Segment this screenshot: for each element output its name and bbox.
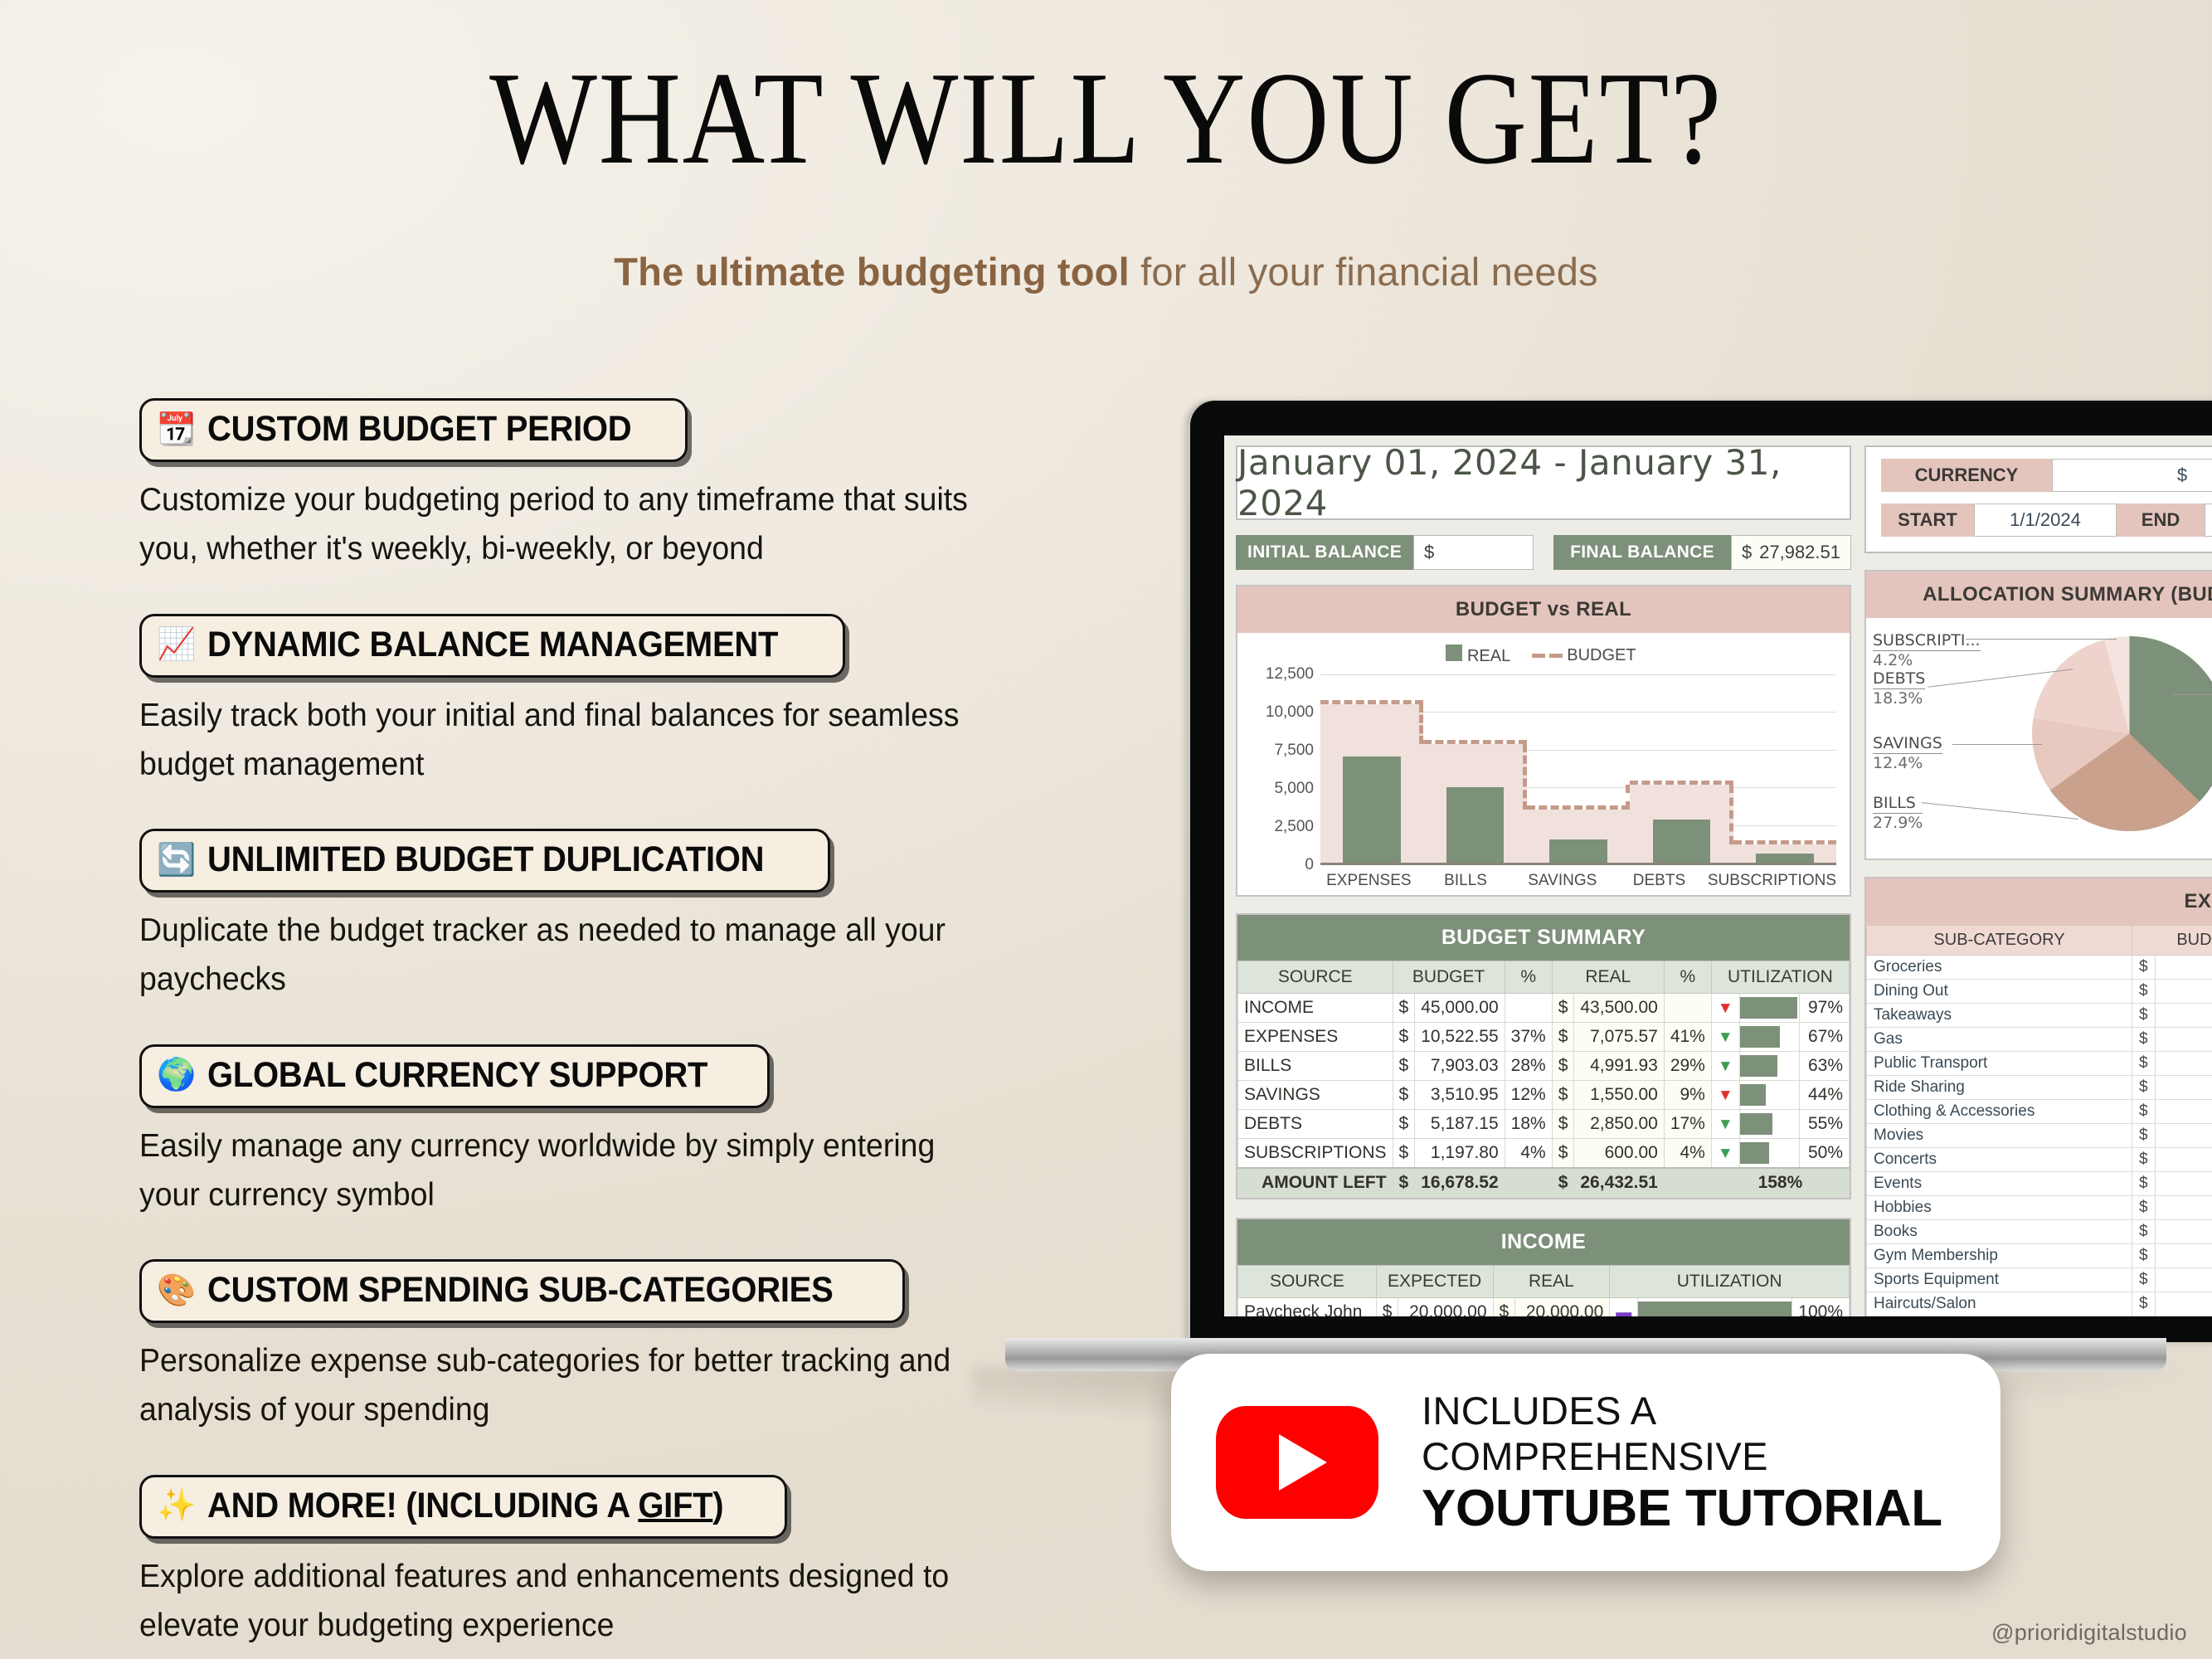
legend-dash-b — [1549, 654, 1563, 658]
cell-utilization: 50% — [1800, 1139, 1850, 1169]
cell-real: 7,075.57 — [1574, 1023, 1664, 1052]
cell-utilization: 100% — [1792, 1298, 1850, 1317]
leader-line — [1952, 744, 2042, 745]
cell-sub-category: Movies — [1867, 1124, 2132, 1148]
table-total-row: AMOUNT LEFT $ 16,678.52 $ 26,432.51 158% — [1238, 1168, 1850, 1198]
cell-currency: $ — [2132, 1076, 2156, 1100]
table-row[interactable]: Concerts$1,664.30$ — [1867, 1148, 2212, 1172]
col-real-pct: % — [1664, 961, 1711, 994]
bar-group-debts — [1630, 674, 1733, 863]
currency-symbol: $ — [1424, 542, 1434, 563]
utilization-bar — [1638, 1301, 1791, 1316]
cell-currency: $ — [1376, 1298, 1398, 1317]
cell-budget: 228.80 — [2155, 1004, 2212, 1028]
cell-sub-category: Gas — [1867, 1028, 2132, 1052]
cell-currency: $ — [2132, 1148, 2156, 1172]
cell-currency: $ — [2132, 1268, 2156, 1292]
cell-budget: 45,000.00 — [1415, 994, 1505, 1023]
leader-line — [1921, 802, 2078, 820]
artist-palette-icon: 🎨 — [157, 1275, 196, 1306]
cell-utilization: 67% — [1800, 1023, 1850, 1052]
table-header-row: SOURCE EXPECTED REAL UTILIZATION — [1238, 1266, 1850, 1298]
table-row[interactable]: INCOME $ 45,000.00 $ 43,500.00 ▼ 97% — [1238, 994, 1850, 1023]
cell-sub-category: Books — [1867, 1220, 2132, 1244]
feature-description: Personalize expense sub-categories for b… — [139, 1336, 984, 1435]
chart-title: BUDGET vs REAL — [1237, 586, 1850, 633]
page-title: WHAT WILL YOU GET? — [155, 51, 2058, 184]
feature-list: 📆 CUSTOM BUDGET PERIOD Customize your bu… — [139, 398, 1068, 1659]
bar-group-bills — [1423, 674, 1526, 863]
cell-sub-category: Clothing & Accessories — [1867, 1100, 2132, 1124]
utilization-bar — [1740, 1142, 1770, 1164]
initial-balance-value[interactable]: $ — [1413, 535, 1534, 570]
cell-currency2: $ — [1552, 1139, 1574, 1169]
bar-series — [1320, 674, 1836, 863]
y-tick: 2,500 — [1274, 818, 1314, 836]
cell-utilization: 55% — [1800, 1110, 1850, 1139]
feature-title-pre: AND MORE! (INCLUDING A — [207, 1486, 638, 1525]
cell-currency2: $ — [1552, 1081, 1574, 1110]
table-header-row: SUB-CATEGORY BUDGET R — [1867, 926, 2212, 956]
settings-card: CURRENCY $ START 1/1/2024 END 1/31/2024 — [1864, 445, 2212, 553]
youtube-tutorial-badge[interactable]: INCLUDES A COMPREHENSIVE YOUTUBE TUTORIA… — [1171, 1354, 2001, 1571]
table-row[interactable]: Groceries$434.50$ — [1867, 956, 2212, 980]
feature-title: AND MORE! (INCLUDING A GIFT) — [207, 1486, 723, 1526]
date-range-row: START 1/1/2024 END 1/31/2024 — [1881, 504, 2212, 537]
cell-source: SUBSCRIPTIONS — [1238, 1139, 1393, 1169]
utilization-bar — [1740, 1055, 1777, 1077]
page-subtitle: The ultimate budgeting tool for all your… — [0, 249, 2212, 294]
col-utilization: UTILIZATION — [1711, 961, 1849, 994]
utilization-bar-cell — [1739, 1110, 1800, 1139]
cell-real: 600.00 — [1574, 1139, 1664, 1169]
cell-real-pct: 9% — [1664, 1081, 1711, 1110]
pie-chart — [2032, 636, 2212, 831]
y-tick: 7,500 — [1274, 742, 1314, 760]
cell-real: 20,000.00 — [1515, 1298, 1610, 1317]
utilization-bar — [1740, 1113, 1772, 1135]
cell-budget: 434.50 — [2155, 956, 2212, 980]
cell-sub-category: Concerts — [1867, 1148, 2132, 1172]
feature-pill-and-more[interactable]: ✨ AND MORE! (INCLUDING A GIFT) — [139, 1475, 787, 1539]
table-row[interactable]: DEBTS $ 5,187.15 18% $ 2,850.00 17% ▼ 55… — [1238, 1110, 1850, 1139]
currency-label: CURRENCY — [1881, 459, 2052, 492]
cell-budget-pct — [1505, 994, 1552, 1023]
cell-currency: $ — [2132, 1292, 2156, 1316]
arrow-down-icon: ▼ — [1718, 1087, 1733, 1104]
legend-dash-a — [1532, 654, 1545, 658]
leader-line — [1966, 639, 2117, 640]
cell-expected: 20,000.00 — [1398, 1298, 1493, 1317]
arrow-up-icon: ▼ — [1718, 1029, 1733, 1046]
cell-currency: $ — [2132, 1028, 2156, 1052]
total-budget: 16,678.52 — [1415, 1168, 1505, 1198]
table-row[interactable]: BILLS $ 7,903.03 28% $ 4,991.93 29% ▼ 63… — [1238, 1052, 1850, 1081]
budget-summary-table: SOURCE BUDGET % REAL % UTILIZATION INCOM… — [1237, 961, 1850, 1198]
y-tick: 10,000 — [1266, 703, 1314, 722]
real-bar — [1343, 757, 1401, 863]
table-row[interactable]: Dining Out$382.20$ — [1867, 980, 2212, 1004]
table-header-row: SOURCE BUDGET % REAL % UTILIZATION — [1238, 961, 1850, 994]
income-card: INCOME SOURCE EXPECTED REAL UTILIZATION … — [1236, 1218, 1851, 1316]
total-real: 26,432.51 — [1574, 1168, 1664, 1198]
cell-budget: 5,187.15 — [1415, 1110, 1505, 1139]
bar-group-savings — [1527, 674, 1630, 863]
cell-real: 2,850.00 — [1574, 1110, 1664, 1139]
total-spacer — [1505, 1168, 1552, 1198]
cell-currency: $ — [2132, 1172, 2156, 1196]
currency-row: CURRENCY $ — [1881, 459, 2212, 492]
col-utilization: UTILIZATION — [1610, 1266, 1850, 1298]
watermark: @prioridigitalstudio — [1991, 1620, 2187, 1646]
cell-utilization: 63% — [1800, 1052, 1850, 1081]
cell-budget: 3,510.95 — [1415, 1081, 1505, 1110]
sheet-right-column: CURRENCY $ START 1/1/2024 END 1/31/2024 … — [1864, 445, 2212, 1316]
cell-currency: $ — [1393, 1052, 1415, 1081]
cell-budget-pct: 18% — [1505, 1110, 1552, 1139]
table-row[interactable]: Events$165.00$ — [1867, 1172, 2212, 1196]
trend-indicator: ▬ — [1610, 1298, 1638, 1317]
feature-title: CUSTOM BUDGET PERIOD — [207, 409, 631, 450]
feature-pill-custom-budget-period[interactable]: 📆 CUSTOM BUDGET PERIOD — [139, 398, 688, 462]
cell-currency2: $ — [1552, 1110, 1574, 1139]
cell-budget: 536.00 — [2155, 1124, 2212, 1148]
calendar-icon: 📆 — [157, 414, 196, 445]
pie-label-value: 27.9% — [1873, 814, 1923, 832]
budget-vs-real-chart-card: BUDGET vs REAL REAL BUDGET 0 2,500 5,000… — [1236, 585, 1851, 897]
pie-label-bills: BILLS 27.9% — [1873, 794, 1923, 832]
x-tick: SUBSCRIPTIONS — [1708, 872, 1836, 890]
pie-label-savings: SAVINGS 12.4% — [1873, 734, 1942, 772]
cell-real-pct: 29% — [1664, 1052, 1711, 1081]
feature-item-and-more: ✨ AND MORE! (INCLUDING A GIFT) Explore a… — [139, 1475, 1068, 1651]
feature-item-global-currency-support: 🌍 GLOBAL CURRENCY SUPPORT Easily manage … — [139, 1044, 1068, 1220]
col-real: REAL — [1493, 1266, 1610, 1298]
youtube-play-icon — [1216, 1406, 1378, 1519]
cell-currency: $ — [1393, 1139, 1415, 1169]
subtitle-bold: The ultimate budgeting tool — [614, 250, 1130, 294]
minus-icon: ▬ — [1616, 1304, 1631, 1316]
feature-description: Duplicate the budget tracker as needed t… — [139, 906, 984, 1005]
badge-line-1: INCLUDES A COMPREHENSIVE — [1422, 1388, 1956, 1479]
cell-budget: 10,522.55 — [1415, 1023, 1505, 1052]
table-row[interactable]: SUBSCRIPTIONS $ 1,197.80 4% $ 600.00 4% … — [1238, 1139, 1850, 1169]
feature-description: Customize your budgeting period to any t… — [139, 475, 984, 574]
legend-label-real: REAL — [1467, 647, 1510, 665]
col-expected: EXPECTED — [1376, 1266, 1493, 1298]
cell-currency: $ — [2132, 1100, 2156, 1124]
currency-input[interactable]: $ — [2052, 459, 2212, 492]
feature-title: CUSTOM SPENDING SUB-CATEGORIES — [207, 1270, 833, 1311]
table-row[interactable]: EXPENSES $ 10,522.55 37% $ 7,075.57 41% … — [1238, 1023, 1850, 1052]
pie-label-text: BILLS — [1873, 794, 1923, 814]
legend-entry-budget: BUDGET — [1532, 646, 1636, 665]
table-row[interactable]: Haircuts/Salon$94.50$ — [1867, 1292, 2212, 1316]
balance-row: INITIAL BALANCE $ FINAL BALANCE $ 27,982… — [1236, 535, 1851, 570]
feature-item-custom-spending-sub-categories: 🎨 CUSTOM SPENDING SUB-CATEGORIES Persona… — [139, 1259, 1068, 1435]
cell-utilization: 44% — [1800, 1081, 1850, 1110]
youtube-badge-text: INCLUDES A COMPREHENSIVE YOUTUBE TUTORIA… — [1422, 1388, 1956, 1538]
play-triangle — [1279, 1434, 1327, 1491]
feature-title: DYNAMIC BALANCE MANAGEMENT — [207, 625, 778, 665]
feature-pill-custom-spending-sub-categories[interactable]: 🎨 CUSTOM SPENDING SUB-CATEGORIES — [139, 1259, 905, 1323]
feature-item-unlimited-budget-duplication: 🔄 UNLIMITED BUDGET DUPLICATION Duplicate… — [139, 829, 1068, 1005]
pie-label-text: SUBSCRIPTI... — [1873, 631, 1981, 651]
expenses-title: EXPENSES — [1866, 878, 2212, 925]
real-bar — [1549, 839, 1607, 863]
cell-source: DEBTS — [1238, 1110, 1393, 1139]
utilization-bar-cell — [1739, 994, 1800, 1023]
leader-line — [2171, 694, 2212, 695]
x-tick: BILLS — [1417, 872, 1514, 890]
cell-sub-category: Ride Sharing — [1867, 1076, 2132, 1100]
table-row[interactable]: Public Transport$88.00$ — [1867, 1052, 2212, 1076]
budget-dash-top — [1423, 740, 1526, 744]
pie-label-subscriptions: SUBSCRIPTI... 4.2% — [1873, 631, 1981, 669]
x-tick: SAVINGS — [1514, 872, 1611, 890]
table-row[interactable]: Gym Membership$1,115.50$ — [1867, 1244, 2212, 1268]
allocation-title-bar: ALLOCATION SUMMARY (BUDGET) ▼ — [1866, 572, 2212, 618]
cell-budget: 7,903.03 — [1415, 1052, 1505, 1081]
cell-real-pct: 41% — [1664, 1023, 1711, 1052]
real-bar — [1653, 820, 1711, 863]
cell-currency: $ — [2132, 1004, 2156, 1028]
cell-budget: 0.00 — [2155, 1076, 2212, 1100]
cell-source: SAVINGS — [1238, 1081, 1393, 1110]
income-title: INCOME — [1237, 1219, 1850, 1265]
x-tick: DEBTS — [1611, 872, 1708, 890]
amount: 27,982.51 — [1759, 542, 1840, 563]
y-axis: 0 2,500 5,000 7,500 10,000 12,500 — [1246, 674, 1320, 865]
budget-summary-title: BUDGET SUMMARY — [1237, 915, 1850, 961]
table-row[interactable]: Hobbies$269.50$ — [1867, 1196, 2212, 1220]
cell-sub-category: Skincare/Beauty — [1867, 1316, 2132, 1317]
x-tick: EXPENSES — [1320, 872, 1417, 890]
feature-pill-global-currency-support[interactable]: 🌍 GLOBAL CURRENCY SUPPORT — [139, 1044, 770, 1108]
expenses-card: EXPENSES SUB-CATEGORY BUDGET R Groceries… — [1864, 877, 2212, 1316]
laptop-mockup: January 01, 2024 - January 31, 2024 INIT… — [1188, 401, 2212, 1371]
cell-sub-category: Events — [1867, 1172, 2132, 1196]
trend-indicator: ▼ — [1711, 1139, 1739, 1169]
feature-description: Explore additional features and enhancem… — [139, 1552, 984, 1651]
chart-body: REAL BUDGET 0 2,500 5,000 7,500 10,000 1… — [1237, 633, 1850, 895]
cell-real: 43,500.00 — [1574, 994, 1664, 1023]
allocation-title: ALLOCATION SUMMARY (BUDGET) — [1923, 583, 2212, 606]
col-budget: BUDGET — [2132, 926, 2212, 956]
cell-currency2: $ — [1493, 1298, 1515, 1317]
pie-label-text: SAVINGS — [1873, 734, 1942, 754]
cell-sub-category: Public Transport — [1867, 1052, 2132, 1076]
feature-pill-unlimited-budget-duplication[interactable]: 🔄 UNLIMITED BUDGET DUPLICATION — [139, 829, 830, 893]
bar-group-subscriptions — [1733, 674, 1836, 863]
utilization-bar — [1740, 1026, 1780, 1048]
table-row[interactable]: Skincare/Beauty$114.75$ — [1867, 1316, 2212, 1317]
cell-source: BILLS — [1238, 1052, 1393, 1081]
cell-currency: $ — [2132, 980, 2156, 1004]
arrow-up-icon: ▼ — [1718, 1145, 1733, 1162]
table-row[interactable]: Books$1,361.25$ — [1867, 1220, 2212, 1244]
feature-description: Easily manage any currency worldwide by … — [139, 1121, 984, 1220]
table-row[interactable]: Movies$536.00$ — [1867, 1124, 2212, 1148]
cell-currency2: $ — [1552, 994, 1574, 1023]
cell-budget: 79.75 — [2155, 1028, 2212, 1052]
col-source: SOURCE — [1238, 961, 1393, 994]
cell-source: Paycheck John — [1238, 1298, 1377, 1317]
cell-budget-pct: 4% — [1505, 1139, 1552, 1169]
feature-description: Easily track both your initial and final… — [139, 691, 984, 790]
cell-budget: 382.20 — [2155, 980, 2212, 1004]
cell-sub-category: Haircuts/Salon — [1867, 1292, 2132, 1316]
cell-sub-category: Takeaways — [1867, 1004, 2132, 1028]
utilization-bar — [1740, 997, 1797, 1019]
feature-item-custom-budget-period: 📆 CUSTOM BUDGET PERIOD Customize your bu… — [139, 398, 1068, 574]
arrow-up-icon: ▼ — [1718, 1116, 1733, 1133]
utilization-bar-cell — [1638, 1298, 1792, 1317]
end-date-input[interactable]: 1/31/2024 — [2205, 504, 2212, 537]
y-tick: 5,000 — [1274, 780, 1314, 798]
cell-budget: 269.50 — [2155, 1196, 2212, 1220]
income-table: SOURCE EXPECTED REAL UTILIZATION Paychec… — [1237, 1265, 1850, 1316]
table-row[interactable]: Paycheck John $ 20,000.00 $ 20,000.00 ▬ … — [1238, 1298, 1850, 1317]
start-label: START — [1881, 504, 1974, 537]
cell-budget-pct: 37% — [1505, 1023, 1552, 1052]
cell-budget: 165.00 — [2155, 1172, 2212, 1196]
pie-label-value: 12.4% — [1873, 754, 1923, 772]
table-row[interactable]: Ride Sharing$0.00$ — [1867, 1076, 2212, 1100]
plot-canvas — [1320, 674, 1836, 865]
cell-utilization: 97% — [1800, 994, 1850, 1023]
cell-source: INCOME — [1238, 994, 1393, 1023]
sheet-left-column: January 01, 2024 - January 31, 2024 INIT… — [1236, 445, 1851, 1316]
cell-budget-pct: 28% — [1505, 1052, 1552, 1081]
cell-budget: 561.60 — [2155, 1268, 2212, 1292]
repeat-icon: 🔄 — [157, 844, 196, 876]
total-spacer2 — [1664, 1168, 1711, 1198]
cell-sub-category: Groceries — [1867, 956, 2132, 980]
cell-budget: 1,664.30 — [2155, 1148, 2212, 1172]
bar-group-expenses — [1320, 674, 1423, 863]
feature-item-dynamic-balance-management: 📈 DYNAMIC BALANCE MANAGEMENT Easily trac… — [139, 614, 1068, 790]
table-row[interactable]: Sports Equipment$561.60$ — [1867, 1268, 2212, 1292]
end-label: END — [2117, 504, 2205, 537]
feature-title-post: ) — [713, 1486, 724, 1525]
cell-budget: 88.00 — [2155, 1052, 2212, 1076]
table-row[interactable]: Takeaways$228.80$ — [1867, 1004, 2212, 1028]
cell-currency: $ — [2132, 956, 2156, 980]
table-row[interactable]: SAVINGS $ 3,510.95 12% $ 1,550.00 9% ▼ 4… — [1238, 1081, 1850, 1110]
x-axis-labels: EXPENSES BILLS SAVINGS DEBTS SUBSCRIPTIO… — [1320, 865, 1836, 890]
trend-indicator: ▼ — [1711, 1110, 1739, 1139]
cell-real-pct: 4% — [1664, 1139, 1711, 1169]
budget-summary-card: BUDGET SUMMARY SOURCE BUDGET % REAL % UT… — [1236, 913, 1851, 1199]
cell-budget: 94.50 — [2155, 1292, 2212, 1316]
cell-sub-category: Hobbies — [1867, 1196, 2132, 1220]
table-row[interactable]: Gas$79.75$ — [1867, 1028, 2212, 1052]
budget-period-display[interactable]: January 01, 2024 - January 31, 2024 — [1236, 445, 1851, 520]
utilization-bar — [1740, 1084, 1767, 1106]
cell-sub-category: Sports Equipment — [1867, 1268, 2132, 1292]
col-source: SOURCE — [1238, 1266, 1377, 1298]
real-bar — [1446, 787, 1505, 863]
legend-entry-real: REAL — [1446, 645, 1510, 666]
final-balance-label: FINAL BALANCE — [1553, 535, 1731, 570]
cell-budget: 1,197.80 — [1415, 1139, 1505, 1169]
pie-label-text: DEBTS — [1873, 669, 1925, 689]
legend-swatch-real — [1446, 645, 1462, 661]
cell-currency: $ — [1393, 1081, 1415, 1110]
cell-currency: $ — [1393, 1110, 1415, 1139]
cell-currency2: $ — [1552, 1023, 1574, 1052]
cell-budget: 1,115.50 — [2155, 1244, 2212, 1268]
col-budget-pct: % — [1505, 961, 1552, 994]
budget-dash-top — [1527, 805, 1630, 810]
subtitle-rest: for all your financial needs — [1130, 250, 1598, 294]
cell-budget: 114.75 — [2155, 1316, 2212, 1317]
budget-dash-top — [1733, 840, 1836, 844]
cell-currency: $ — [2132, 1196, 2156, 1220]
cell-budget: 559.00 — [2155, 1100, 2212, 1124]
spreadsheet-screen: January 01, 2024 - January 31, 2024 INIT… — [1224, 435, 2212, 1316]
total-currency2: $ — [1552, 1168, 1574, 1198]
final-balance-value[interactable]: $ 27,982.51 — [1731, 535, 1851, 570]
cell-sub-category: Gym Membership — [1867, 1244, 2132, 1268]
cell-source: EXPENSES — [1238, 1023, 1393, 1052]
utilization-bar-cell — [1739, 1139, 1800, 1169]
chart-increasing-icon: 📈 — [157, 629, 196, 660]
utilization-bar-cell — [1739, 1023, 1800, 1052]
col-sub-category: SUB-CATEGORY — [1867, 926, 2132, 956]
col-budget: BUDGET — [1393, 961, 1505, 994]
expenses-table-body: Groceries$434.50$Dining Out$382.20$Takea… — [1867, 956, 2212, 1317]
cell-currency: $ — [2132, 1316, 2156, 1317]
utilization-bar-cell — [1739, 1052, 1800, 1081]
y-tick: 0 — [1305, 856, 1314, 874]
feature-pill-dynamic-balance-management[interactable]: 📈 DYNAMIC BALANCE MANAGEMENT — [139, 614, 845, 678]
cell-budget-pct: 12% — [1505, 1081, 1552, 1110]
arrow-down-icon: ▼ — [1718, 1000, 1733, 1017]
table-row[interactable]: Clothing & Accessories$559.00$ — [1867, 1100, 2212, 1124]
cell-sub-category: Dining Out — [1867, 980, 2132, 1004]
trend-indicator: ▼ — [1711, 1081, 1739, 1110]
feature-title: UNLIMITED BUDGET DUPLICATION — [207, 839, 764, 880]
initial-balance-label: INITIAL BALANCE — [1236, 535, 1413, 570]
budget-dash-top — [1630, 781, 1733, 785]
cell-currency2: $ — [1552, 1052, 1574, 1081]
cell-currency: $ — [1393, 994, 1415, 1023]
expenses-table: SUB-CATEGORY BUDGET R Groceries$434.50$D… — [1866, 925, 2212, 1316]
gift-link[interactable]: GIFT — [639, 1486, 713, 1525]
pie-label-value: 4.2% — [1873, 651, 1913, 669]
cell-currency: $ — [1393, 1023, 1415, 1052]
pie-chart-area: SUBSCRIPTI... 4.2% DEBTS 18.3% SAVINGS 1… — [1866, 618, 2212, 859]
total-utilization: 158% — [1711, 1168, 1849, 1198]
sparkles-icon: ✨ — [157, 1490, 196, 1521]
cell-currency: $ — [2132, 1052, 2156, 1076]
cell-budget: 1,361.25 — [2155, 1220, 2212, 1244]
total-currency: $ — [1393, 1168, 1415, 1198]
globe-icon: 🌍 — [157, 1059, 196, 1091]
trend-indicator: ▼ — [1711, 1052, 1739, 1081]
initial-balance-field[interactable]: INITIAL BALANCE $ — [1236, 535, 1534, 570]
cell-real-pct — [1664, 994, 1711, 1023]
utilization-bar-cell — [1739, 1081, 1800, 1110]
pie-label-debts: DEBTS 18.3% — [1873, 669, 1925, 708]
start-date-input[interactable]: 1/1/2024 — [1974, 504, 2117, 537]
currency-symbol: $ — [1742, 542, 1752, 563]
final-balance-field[interactable]: FINAL BALANCE $ 27,982.51 — [1553, 535, 1851, 570]
plot-area: 0 2,500 5,000 7,500 10,000 12,500 — [1246, 674, 1836, 865]
cell-currency: $ — [2132, 1124, 2156, 1148]
